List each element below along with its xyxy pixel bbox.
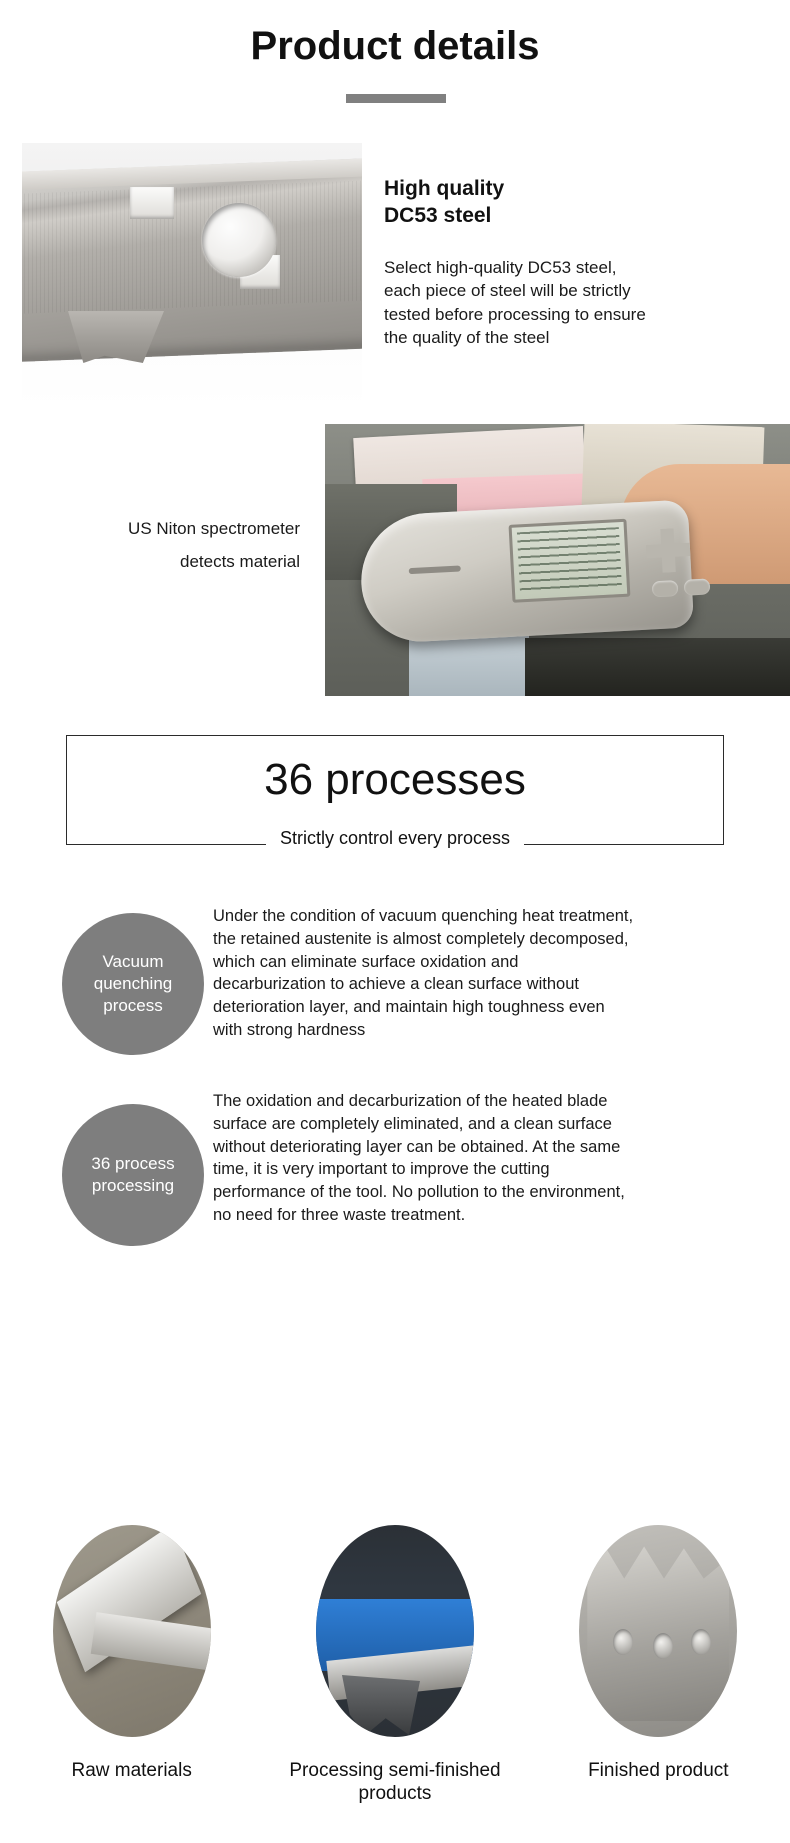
- spectrometer-device: [358, 499, 694, 644]
- feature-heading-line2: DC53 steel: [384, 203, 684, 230]
- dpad-icon: [645, 527, 691, 573]
- processes-subtitle-text: Strictly control every process: [266, 828, 524, 848]
- feature-heading-line1: High quality: [384, 176, 684, 203]
- feature-heading: High quality DC53 steel: [384, 176, 684, 230]
- gallery-caption: Processing semi-finished products: [277, 1759, 513, 1805]
- product-details-page: Product details High quality DC53 steel …: [0, 0, 790, 1843]
- device-screen: [509, 519, 631, 603]
- process-text-36-process-processing: The oxidation and decarburization of the…: [213, 1090, 635, 1227]
- blade-notch-left: [130, 187, 174, 219]
- semi-finished-processing-photo: [316, 1525, 474, 1737]
- steel-bar-lower: [90, 1612, 210, 1672]
- gallery-item-finished-product: Finished product: [540, 1525, 776, 1782]
- process-badge-vacuum-quenching: Vacuum quenching process: [62, 913, 204, 1055]
- finished-blade-product-photo: [579, 1525, 737, 1737]
- process-text-vacuum-quenching: Under the condition of vacuum quenching …: [213, 905, 635, 1042]
- blade-tooling: [342, 1675, 420, 1735]
- process-badge-36-process-processing: 36 process processing: [62, 1104, 204, 1246]
- product-stage-gallery: Raw materials Processing semi-finished p…: [0, 1525, 790, 1805]
- spectrometer-caption-line2: detects material: [40, 545, 300, 578]
- blade-texture: [22, 180, 362, 314]
- page-title: Product details: [0, 24, 790, 69]
- processes-subtitle: Strictly control every process: [0, 828, 790, 849]
- spectrometer-caption: US Niton spectrometer detects material: [40, 512, 300, 578]
- raw-material-steel-bar-photo: [53, 1525, 211, 1737]
- blade-hole: [202, 203, 276, 277]
- processes-count-label: 36 processes: [66, 758, 724, 802]
- feature-body-text: Select high-quality DC53 steel, each pie…: [384, 256, 654, 350]
- gallery-item-raw-materials: Raw materials: [14, 1525, 250, 1782]
- dc53-steel-blade-photo: [22, 143, 362, 408]
- gallery-item-semi-finished: Processing semi-finished products: [277, 1525, 513, 1805]
- gallery-caption: Raw materials: [14, 1759, 250, 1782]
- gallery-caption: Finished product: [540, 1759, 776, 1782]
- device-button-right: [684, 578, 711, 595]
- title-divider: [346, 94, 446, 103]
- spectrometer-caption-line1: US Niton spectrometer: [40, 512, 300, 545]
- dark-foreground: [525, 638, 790, 696]
- device-button-left: [652, 580, 679, 597]
- screen-readout: [517, 527, 622, 594]
- niton-xrf-spectrometer-photo: [325, 424, 790, 696]
- device-vent: [409, 565, 461, 574]
